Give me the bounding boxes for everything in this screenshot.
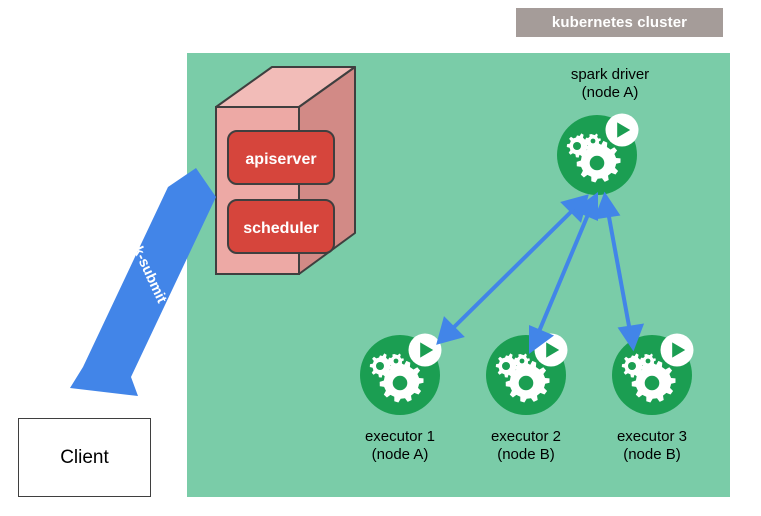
control-plane-cube: apiserver scheduler <box>216 67 355 274</box>
client-label: Client <box>60 447 109 469</box>
diagram-canvas: apiserver scheduler <box>0 0 761 516</box>
scheduler-label: scheduler <box>243 220 319 237</box>
cluster-banner: kubernetes cluster <box>516 8 723 37</box>
client-box[interactable]: Client <box>18 418 151 497</box>
cluster-banner-label: kubernetes cluster <box>552 14 687 31</box>
apiserver-label: apiserver <box>245 151 316 168</box>
